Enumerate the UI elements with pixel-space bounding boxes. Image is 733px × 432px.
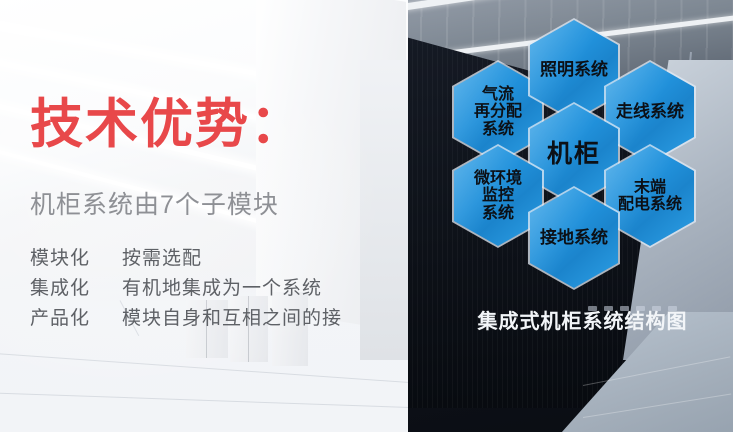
page-subtitle: 机柜系统由7个子模块: [30, 185, 279, 221]
list-item-key: 模块化: [30, 243, 122, 270]
list-item-value: 模块自身和互相之间的接: [122, 303, 342, 330]
hex-label-grounding: 接地系统: [540, 229, 608, 247]
list-item: 产品化 模块自身和互相之间的接: [30, 303, 342, 330]
hex-label-terminal-power: 末端配电系统: [618, 179, 682, 214]
hex-label-lighting: 照明系统: [540, 61, 608, 79]
hex-label-cabling: 走线系统: [616, 103, 684, 121]
hex-label-micro-env: 微环境监控系统: [474, 170, 522, 222]
list-item: 集成化 有机地集成为一个系统: [30, 273, 342, 300]
list-item-key: 集成化: [30, 273, 122, 300]
list-item-value: 有机地集成为一个系统: [122, 273, 322, 300]
feature-list: 模块化 按需选配 集成化 有机地集成为一个系统 产品化 模块自身和互相之间的接: [30, 243, 342, 333]
diagram-caption: 集成式机柜系统结构图: [440, 305, 725, 334]
list-item-key: 产品化: [30, 303, 122, 330]
slide-canvas: 技术优势： 机柜系统由7个子模块 模块化 按需选配 集成化 有机地集成为一个系统…: [0, 0, 733, 432]
list-item-value: 按需选配: [122, 243, 202, 270]
hex-label-airflow: 气流再分配系统: [474, 86, 522, 138]
hex-diagram: 气流再分配系统 照明系统 走线系统 机柜 微环境监控系统 末端配电系统 接地: [440, 14, 725, 304]
list-item: 模块化 按需选配: [30, 243, 342, 270]
page-title: 技术优势：: [30, 98, 305, 151]
hex-label-center-cabinet: 机柜: [547, 141, 601, 168]
